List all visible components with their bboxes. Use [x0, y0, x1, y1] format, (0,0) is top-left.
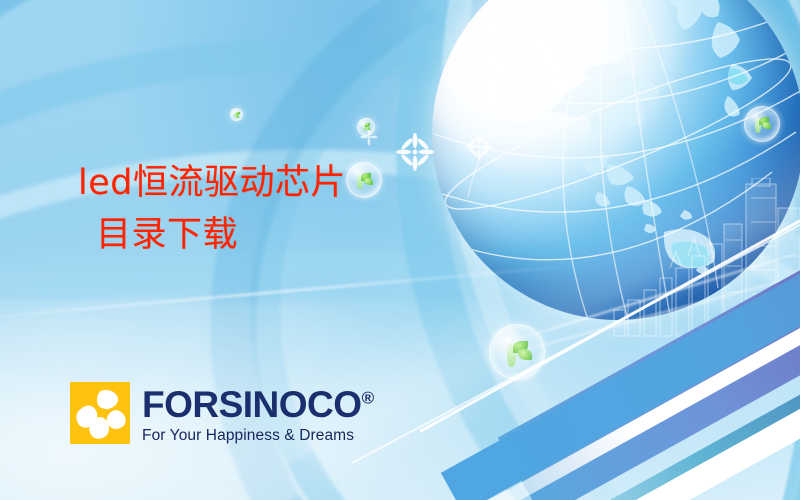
- bubble-green-sprout-small: [357, 118, 375, 136]
- brand-tagline: For Your Happiness & Dreams: [142, 428, 374, 444]
- forsinoco-pinwheel-mark-icon: [70, 382, 130, 444]
- logo-text-block: FORSINOCO® For Your Happiness & Dreams: [142, 382, 374, 444]
- headline-line-2: 目录下载: [96, 210, 346, 262]
- bubble-green-sprout-mid: [346, 162, 382, 198]
- company-logo: FORSINOCO® For Your Happiness & Dreams: [70, 382, 374, 444]
- brand-word: FORSINOCO: [142, 384, 362, 425]
- sprout-leaf-right: [366, 127, 370, 130]
- sparkle-asterisk-medium: [466, 134, 492, 160]
- brand-name: FORSINOCO®: [142, 386, 374, 423]
- banner-canvas: led恒流驱动芯片 目录下载 FORSINOCO® For Your Happi…: [0, 0, 800, 500]
- sprout-leaf-right: [762, 122, 771, 129]
- registered-trademark-symbol: ®: [362, 389, 375, 408]
- headline-line-1: led恒流驱动芯片: [78, 163, 346, 203]
- sprout-leaf-right: [236, 115, 239, 118]
- sprout-leaf-right: [364, 178, 373, 185]
- headline-text: led恒流驱动芯片 目录下载: [78, 158, 346, 262]
- bubble-tiny: [230, 108, 243, 121]
- sparkle-asterisk-large: [396, 133, 434, 171]
